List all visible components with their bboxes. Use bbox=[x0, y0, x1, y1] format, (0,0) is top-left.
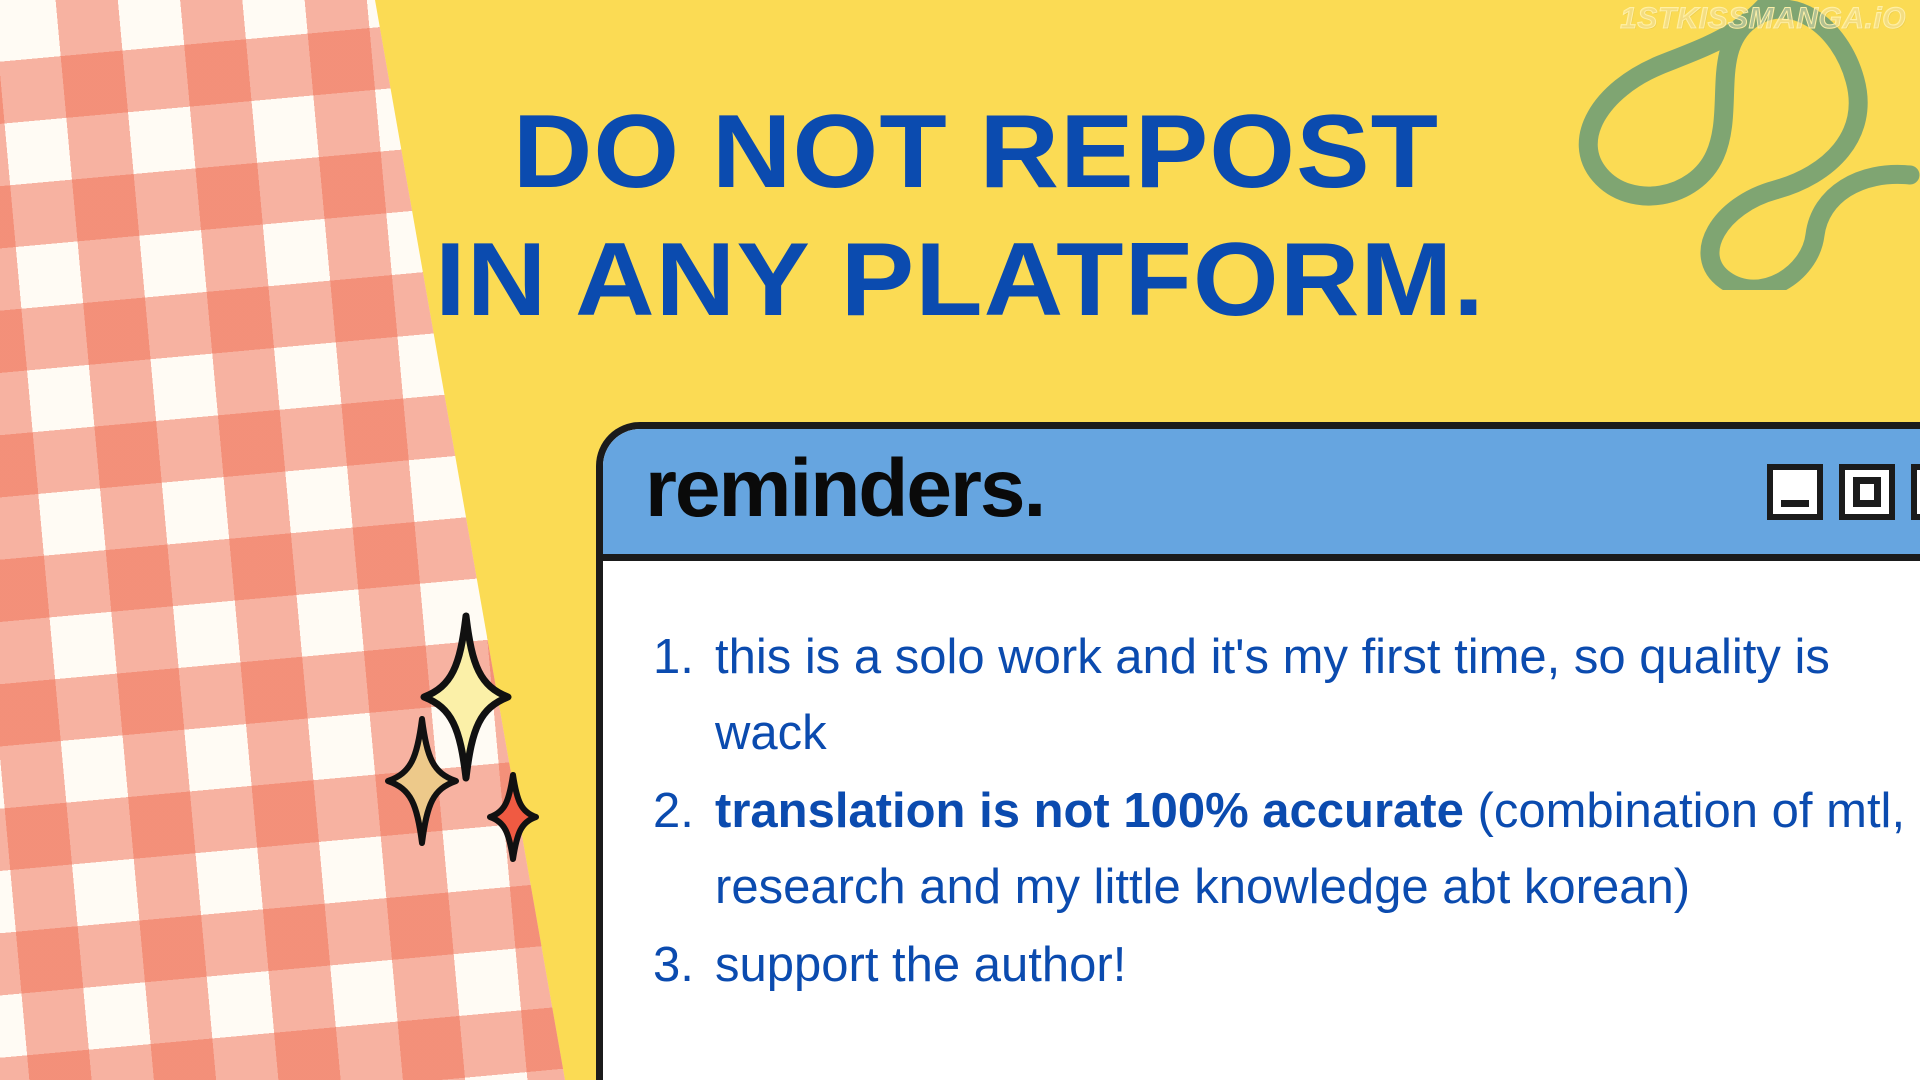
minimize-icon bbox=[1781, 500, 1809, 507]
window-body: this is a solo work and it's my first ti… bbox=[603, 561, 1920, 1003]
window-titlebar: reminders. bbox=[603, 429, 1920, 561]
close-button[interactable] bbox=[1911, 464, 1920, 520]
reminders-window: reminders. this is a solo work and it's … bbox=[596, 422, 1920, 1080]
reminder-text: this is a solo work and it's my first ti… bbox=[715, 630, 1830, 760]
list-item: support the author! bbox=[715, 927, 1919, 1003]
maximize-icon bbox=[1853, 477, 1881, 507]
window-controls bbox=[1767, 464, 1920, 520]
list-item: translation is not 100% accurate (combin… bbox=[715, 773, 1919, 925]
green-curly-line-icon bbox=[1460, 0, 1920, 290]
window-title: reminders. bbox=[645, 448, 1044, 530]
site-watermark: 1STKISSMANGA.iO bbox=[1620, 2, 1906, 36]
reminders-list: this is a solo work and it's my first ti… bbox=[653, 619, 1919, 1003]
sparkle-medium-icon bbox=[385, 716, 459, 846]
reminders-poster: 1STKISSMANGA.iO DO NOT REPOST IN ANY PLA… bbox=[0, 0, 1920, 1080]
gingham-pattern-panel bbox=[0, 0, 620, 1080]
minimize-button[interactable] bbox=[1767, 464, 1823, 520]
maximize-button[interactable] bbox=[1839, 464, 1895, 520]
reminder-text: support the author! bbox=[715, 938, 1126, 992]
reminder-bold-text: translation is not 100% accurate bbox=[715, 784, 1464, 838]
list-item: this is a solo work and it's my first ti… bbox=[715, 619, 1919, 771]
sparkle-small-icon bbox=[487, 772, 539, 862]
gingham-pattern-fill bbox=[0, 0, 620, 1080]
